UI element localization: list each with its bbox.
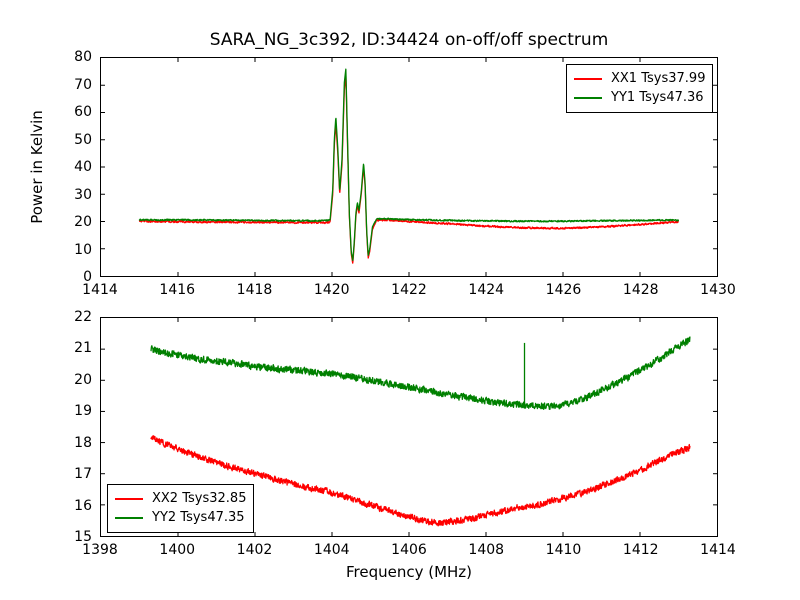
x-tick-label: 1414 bbox=[82, 282, 118, 298]
trace-yy2 bbox=[151, 337, 690, 409]
spectrum-figure: SARA_NG_3c392, ID:34424 on-off/off spect… bbox=[0, 0, 800, 600]
y-tick-label: 80 bbox=[34, 49, 92, 65]
legend-label-xx1: XX1 Tsys37.99 bbox=[611, 71, 705, 86]
legend-swatch-yy2 bbox=[115, 517, 143, 519]
y-tick-label: 19 bbox=[34, 403, 92, 419]
x-tick-label: 1426 bbox=[546, 282, 582, 298]
legend-label-xx2: XX2 Tsys32.85 bbox=[152, 491, 246, 506]
x-tick-label: 1424 bbox=[468, 282, 504, 298]
y-tick-label: 18 bbox=[34, 435, 92, 451]
y-tick-label: 17 bbox=[34, 466, 92, 482]
x-tick-label: 1418 bbox=[237, 282, 273, 298]
y-tick-label: 22 bbox=[34, 309, 92, 325]
bottom-legend: XX2 Tsys32.85 YY2 Tsys47.35 bbox=[107, 484, 254, 533]
x-tick-label: 1402 bbox=[237, 542, 273, 558]
y-tick-label: 20 bbox=[34, 372, 92, 388]
top-legend: XX1 Tsys37.99 YY1 Tsys47.36 bbox=[566, 64, 713, 113]
top-y-axis-label: Power in Kelvin bbox=[28, 110, 46, 224]
x-tick-label: 1400 bbox=[159, 542, 195, 558]
y-tick-label: 21 bbox=[34, 340, 92, 356]
x-tick-label: 1414 bbox=[700, 542, 736, 558]
y-tick-label: 16 bbox=[34, 498, 92, 514]
x-tick-label: 1420 bbox=[314, 282, 350, 298]
legend-item: YY2 Tsys47.35 bbox=[115, 508, 246, 527]
x-tick-label: 1408 bbox=[468, 542, 504, 558]
x-tick-label: 1410 bbox=[546, 542, 582, 558]
x-axis-label: Frequency (MHz) bbox=[100, 563, 718, 581]
x-tick-label: 1404 bbox=[314, 542, 350, 558]
page-title: SARA_NG_3c392, ID:34424 on-off/off spect… bbox=[100, 30, 718, 50]
legend-item: YY1 Tsys47.36 bbox=[574, 88, 705, 107]
legend-item: XX1 Tsys37.99 bbox=[574, 69, 705, 88]
legend-swatch-xx2 bbox=[115, 498, 143, 500]
legend-item: XX2 Tsys32.85 bbox=[115, 489, 246, 508]
x-tick-label: 1422 bbox=[391, 282, 427, 298]
y-tick-label: 70 bbox=[34, 77, 92, 93]
x-tick-label: 1406 bbox=[391, 542, 427, 558]
legend-swatch-yy1 bbox=[574, 97, 602, 99]
legend-label-yy1: YY1 Tsys47.36 bbox=[611, 90, 704, 105]
legend-label-yy2: YY2 Tsys47.35 bbox=[152, 510, 245, 525]
x-tick-label: 1412 bbox=[623, 542, 659, 558]
legend-swatch-xx1 bbox=[574, 78, 602, 80]
x-tick-label: 1430 bbox=[700, 282, 736, 298]
x-tick-label: 1416 bbox=[159, 282, 195, 298]
x-tick-label: 1428 bbox=[623, 282, 659, 298]
x-tick-label: 1398 bbox=[82, 542, 118, 558]
y-tick-label: 10 bbox=[34, 242, 92, 258]
